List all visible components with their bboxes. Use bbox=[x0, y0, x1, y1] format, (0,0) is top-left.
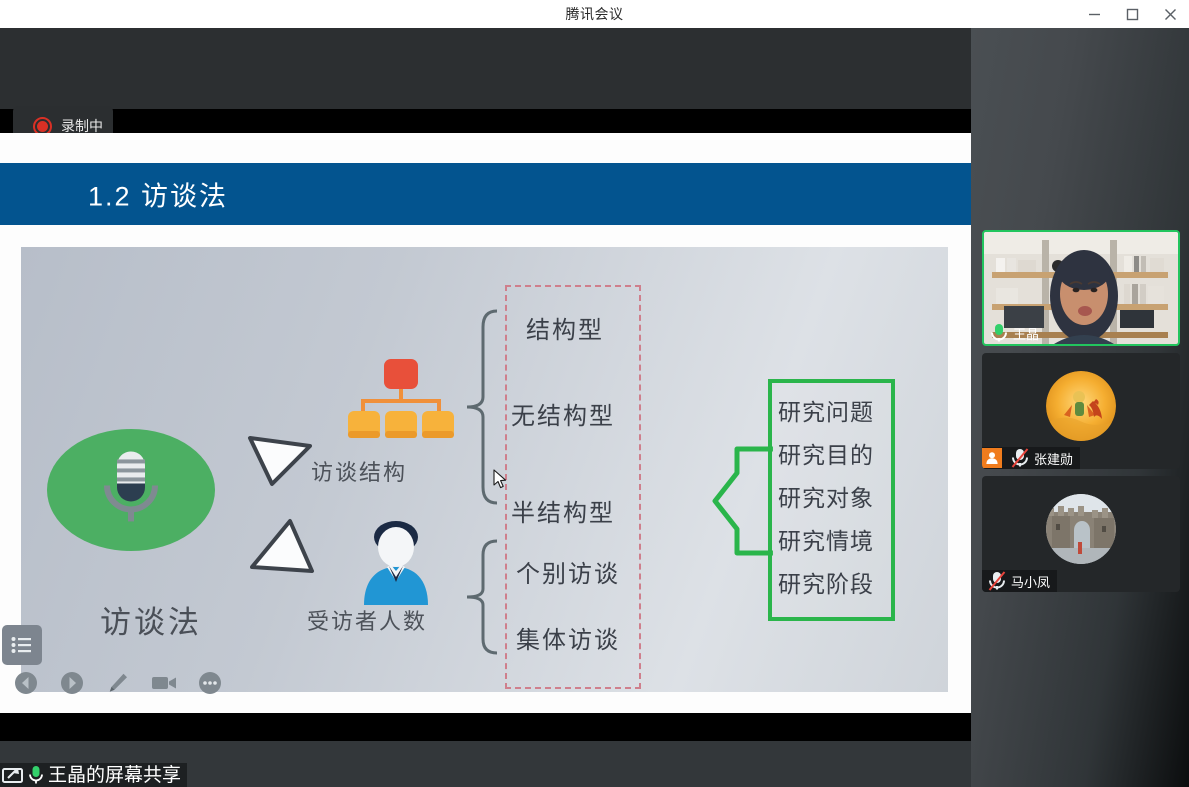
green-item-0: 研究问题 bbox=[778, 393, 874, 427]
next-slide-button[interactable] bbox=[59, 670, 85, 696]
mic-on-icon bbox=[28, 765, 44, 785]
chevron-arrow-up-icon bbox=[246, 432, 316, 492]
window-controls bbox=[1075, 0, 1189, 28]
slide-diagram-image: 访谈法 bbox=[21, 247, 948, 692]
pen-tool-button[interactable] bbox=[105, 670, 131, 696]
close-button[interactable] bbox=[1151, 0, 1189, 28]
chevron-arrow-down-icon bbox=[246, 517, 316, 577]
screen-share-icon bbox=[2, 765, 24, 785]
interview-method-circle bbox=[47, 429, 215, 551]
participant-tile-2[interactable]: 马小凤 bbox=[982, 476, 1180, 592]
participant-tile-1[interactable]: 张建勋 bbox=[982, 353, 1180, 469]
screen-share-status-bar[interactable]: 王晶的屏幕共享 bbox=[0, 763, 187, 787]
minimize-button[interactable] bbox=[1075, 0, 1113, 28]
ellipsis-icon bbox=[198, 671, 222, 695]
list-menu-icon bbox=[11, 636, 33, 654]
participant-rail: 王晶 bbox=[971, 28, 1189, 787]
participant-name-1: 张建勋 bbox=[1034, 449, 1073, 468]
branch-label-structure: 访谈结构 bbox=[311, 455, 407, 487]
presenter-menu-button[interactable] bbox=[2, 625, 42, 665]
participant-name-2: 马小凤 bbox=[1011, 572, 1050, 591]
microphone-icon bbox=[95, 449, 167, 527]
little-prince-avatar bbox=[1046, 371, 1116, 441]
brace-bottom-icon bbox=[461, 537, 501, 657]
green-item-2: 研究对象 bbox=[778, 479, 874, 513]
participant-name-0: 王晶 bbox=[1013, 324, 1039, 343]
maximize-button[interactable] bbox=[1113, 0, 1151, 28]
person-icon bbox=[356, 519, 436, 605]
branch-label-participants: 受访者人数 bbox=[307, 604, 427, 636]
prev-arrow-icon bbox=[14, 671, 38, 695]
shared-screen-top-strip bbox=[0, 28, 971, 109]
participant-footer-2: 马小凤 bbox=[982, 570, 1057, 592]
castle-archway-avatar bbox=[1046, 494, 1116, 564]
next-arrow-icon bbox=[60, 671, 84, 695]
shared-screen-region[interactable]: 录制中 1.2 访谈法 bbox=[0, 28, 971, 787]
dashed-item-4: 集体访谈 bbox=[516, 620, 620, 655]
window-title-bar: 腾讯会议 bbox=[0, 0, 1189, 28]
slide-title: 1.2 访谈法 bbox=[88, 175, 228, 214]
dashed-item-0: 结构型 bbox=[526, 310, 604, 345]
more-options-button[interactable] bbox=[197, 670, 223, 696]
presentation-slide: 1.2 访谈法 访谈法 bbox=[0, 133, 971, 713]
participant-tile-0[interactable]: 王晶 bbox=[982, 230, 1180, 346]
screen-share-label: 王晶的屏幕共享 bbox=[48, 766, 181, 785]
pen-icon bbox=[106, 671, 130, 695]
mic-on-icon[interactable] bbox=[990, 322, 1008, 344]
presenter-toolbar bbox=[13, 669, 223, 697]
mic-off-icon[interactable] bbox=[1011, 448, 1029, 468]
host-person-icon bbox=[982, 448, 1002, 468]
video-camera-icon bbox=[151, 672, 177, 694]
window-title: 腾讯会议 bbox=[566, 4, 624, 24]
dashed-item-2: 半结构型 bbox=[511, 493, 615, 528]
shared-screen-black-band bbox=[0, 713, 971, 741]
arrow-cursor-icon bbox=[493, 469, 507, 489]
org-chart-icon bbox=[346, 357, 456, 447]
dashed-item-3: 个别访谈 bbox=[516, 554, 620, 589]
dashed-item-1: 无结构型 bbox=[511, 396, 615, 431]
mic-off-icon[interactable] bbox=[988, 571, 1006, 591]
video-tool-button[interactable] bbox=[151, 670, 177, 696]
participant-footer-0: 王晶 bbox=[984, 322, 1046, 344]
center-node-label: 访谈法 bbox=[61, 597, 241, 642]
previous-slide-button[interactable] bbox=[13, 670, 39, 696]
green-item-3: 研究情境 bbox=[778, 522, 874, 556]
meeting-window-body: 录制中 1.2 访谈法 bbox=[0, 28, 1189, 787]
participant-footer-1: 张建勋 bbox=[982, 447, 1080, 469]
green-item-1: 研究目的 bbox=[778, 436, 874, 470]
green-item-4: 研究阶段 bbox=[778, 565, 874, 599]
slide-header-banner: 1.2 访谈法 bbox=[0, 163, 971, 225]
